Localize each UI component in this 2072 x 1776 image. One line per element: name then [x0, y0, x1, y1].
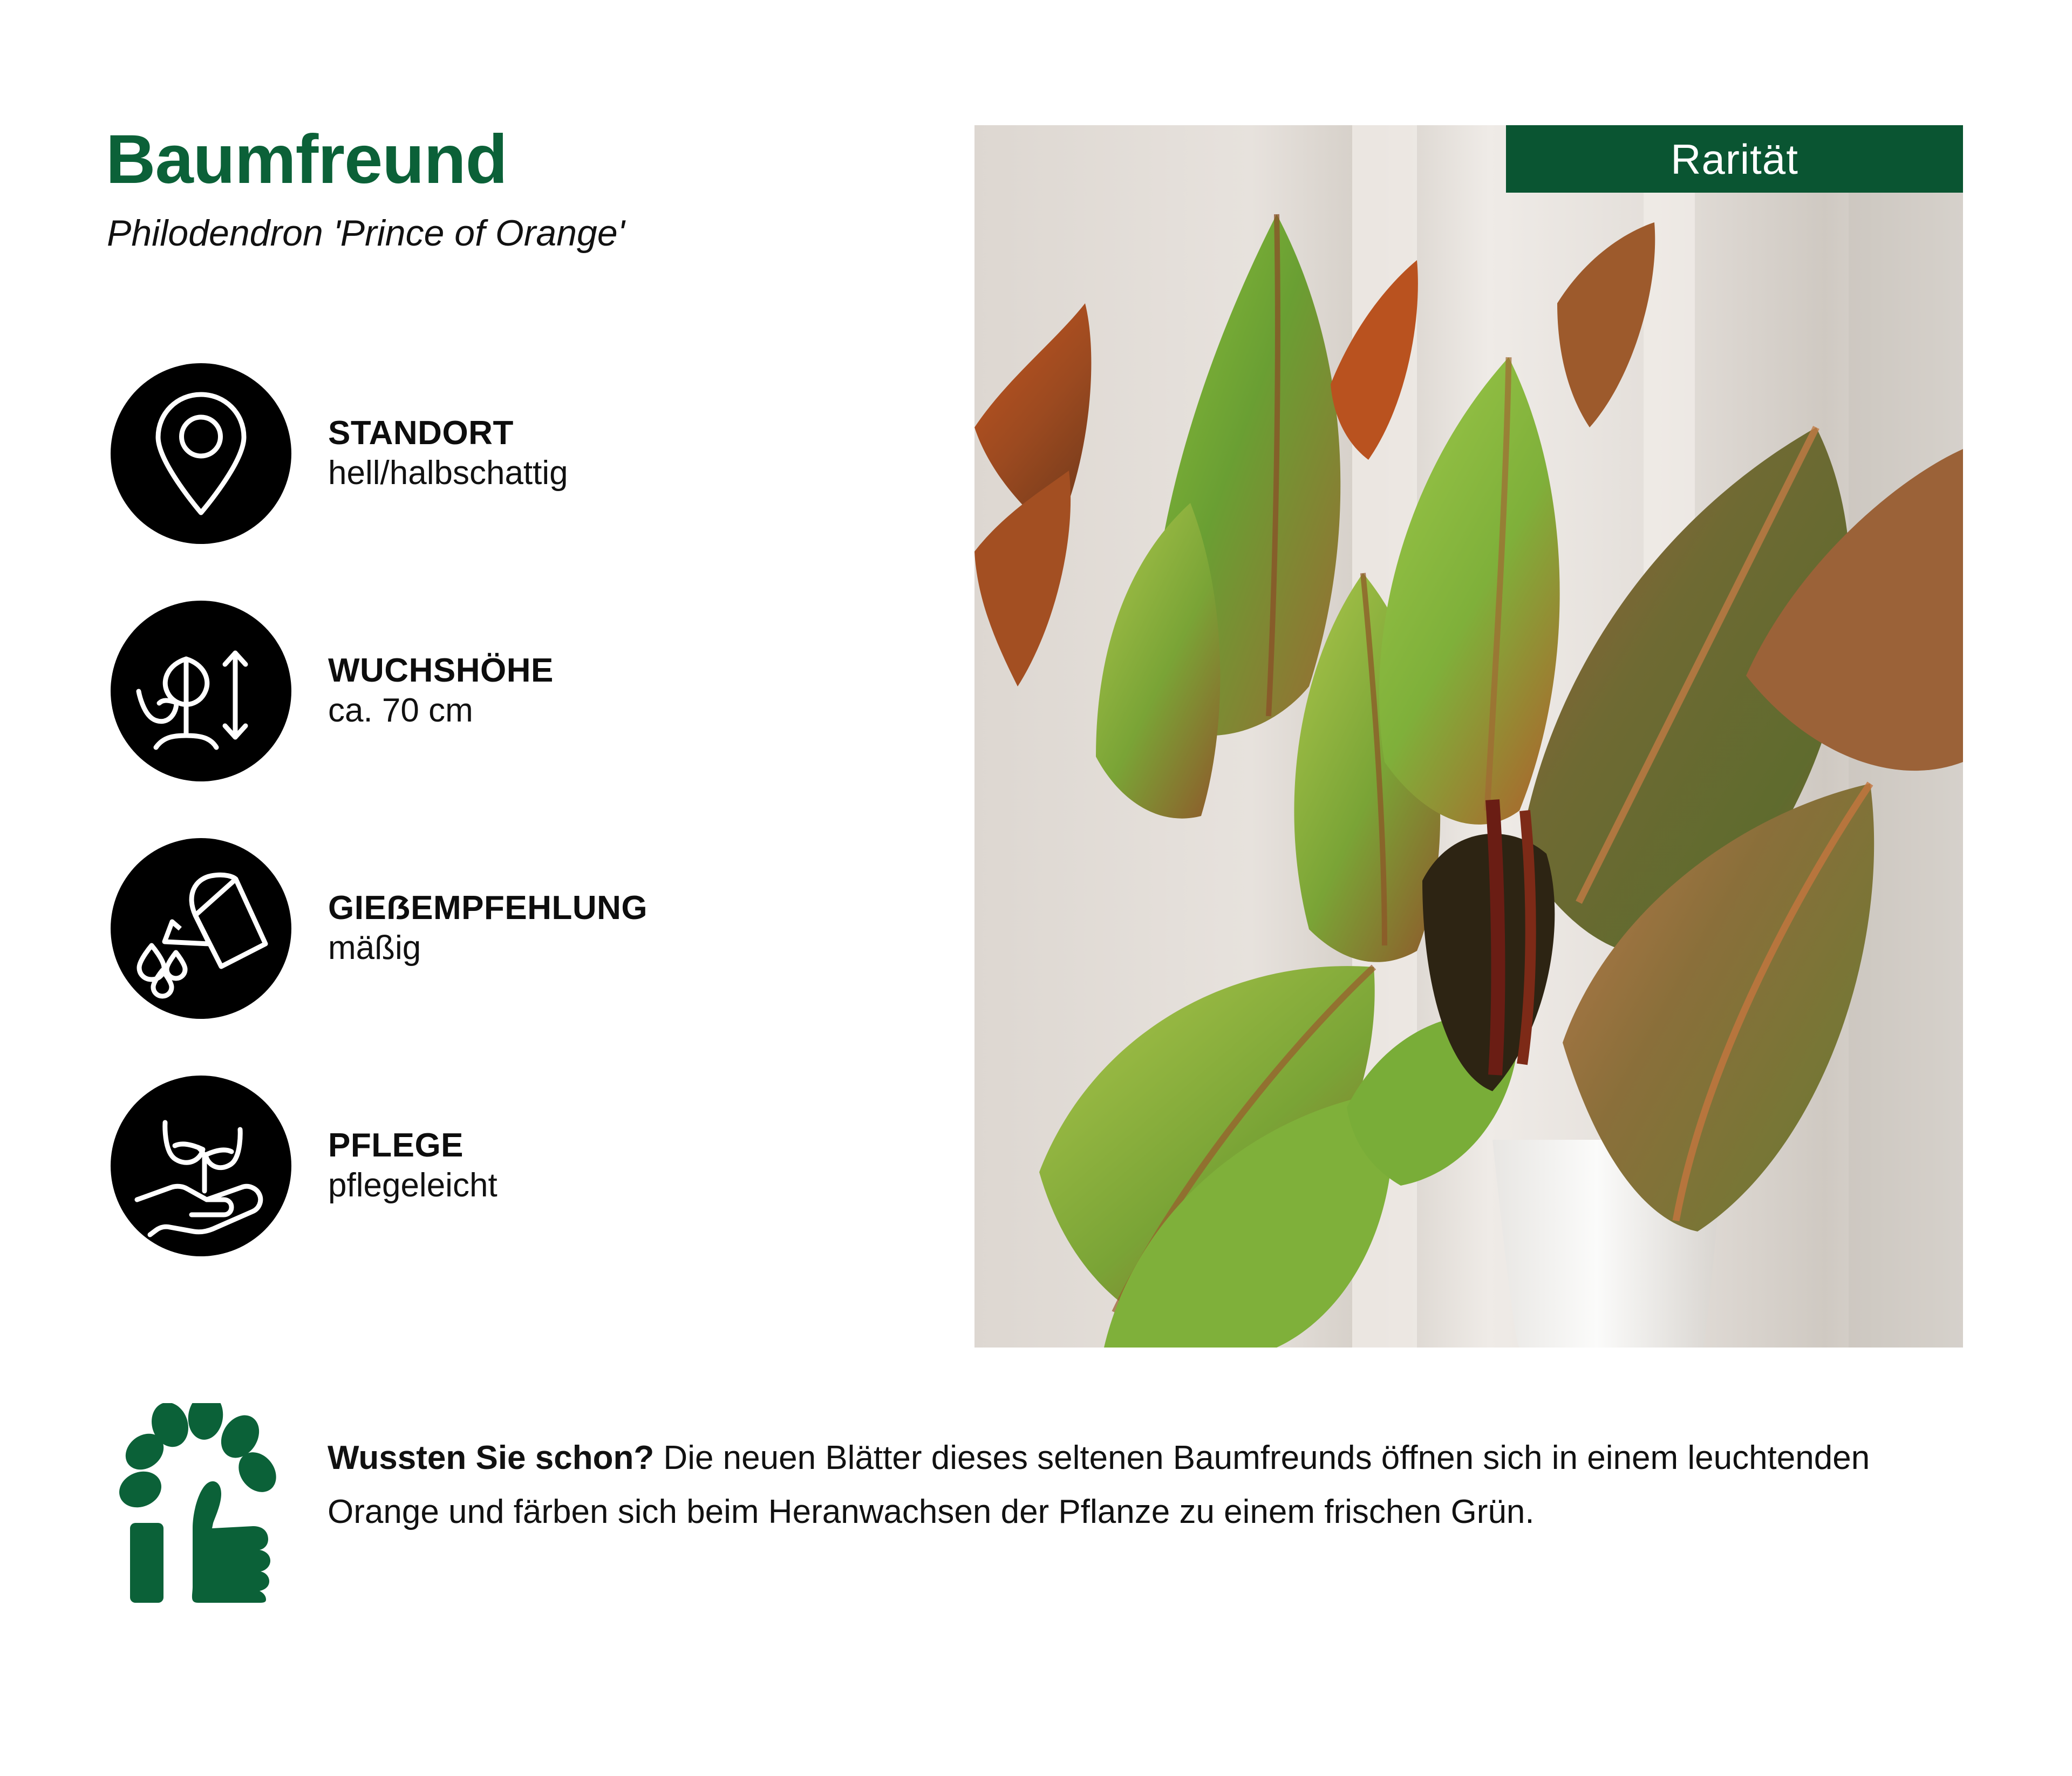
spec-value: mäßig [328, 928, 647, 969]
spec-row: PFLEGE pflegeleicht [111, 1076, 920, 1256]
botanical-name: Philodendron 'Prince of Orange' [107, 215, 625, 251]
spec-label: GIEẞEMPFEHLUNG [328, 888, 647, 928]
spec-text: GIEẞEMPFEHLUNG mäßig [328, 888, 647, 969]
spec-value: pflegeleicht [328, 1165, 497, 1206]
footer-note-text: Wussten Sie schon? Die neuen Blätter die… [328, 1431, 1957, 1540]
watering-can-icon [111, 838, 291, 1019]
plant-height-arrow-icon [111, 601, 291, 781]
badge-label: Rarität [1671, 138, 1798, 180]
status-badge: Rarität [1506, 125, 1963, 193]
did-you-know-note: Wussten Sie schon? Die neuen Blätter die… [111, 1403, 1967, 1603]
product-info-column: Baumfreund Philodendron 'Prince of Orang… [0, 0, 966, 1382]
green-thumbs-up-leaf-icon [111, 1403, 289, 1603]
spec-text: STANDORT hell/halbschattig [328, 413, 568, 494]
spec-value: hell/halbschattig [328, 453, 568, 494]
spec-text: WUCHSHÖHE ca. 70 cm [328, 651, 554, 731]
spec-label: STANDORT [328, 413, 568, 453]
spec-row: GIEẞEMPFEHLUNG mäßig [111, 838, 920, 1019]
hand-sprout-icon [111, 1076, 291, 1256]
spec-label: WUCHSHÖHE [328, 651, 554, 690]
spec-row: WUCHSHÖHE ca. 70 cm [111, 601, 920, 781]
spec-text: PFLEGE pflegeleicht [328, 1126, 497, 1206]
spec-row: STANDORT hell/halbschattig [111, 363, 920, 544]
product-photo: Rarität [974, 125, 1963, 1348]
spec-value: ca. 70 cm [328, 690, 554, 731]
page-title: Baumfreund [106, 125, 507, 194]
spec-label: PFLEGE [328, 1126, 497, 1165]
footer-note-lead: Wussten Sie schon? [328, 1439, 654, 1476]
location-pin-icon [111, 363, 291, 544]
